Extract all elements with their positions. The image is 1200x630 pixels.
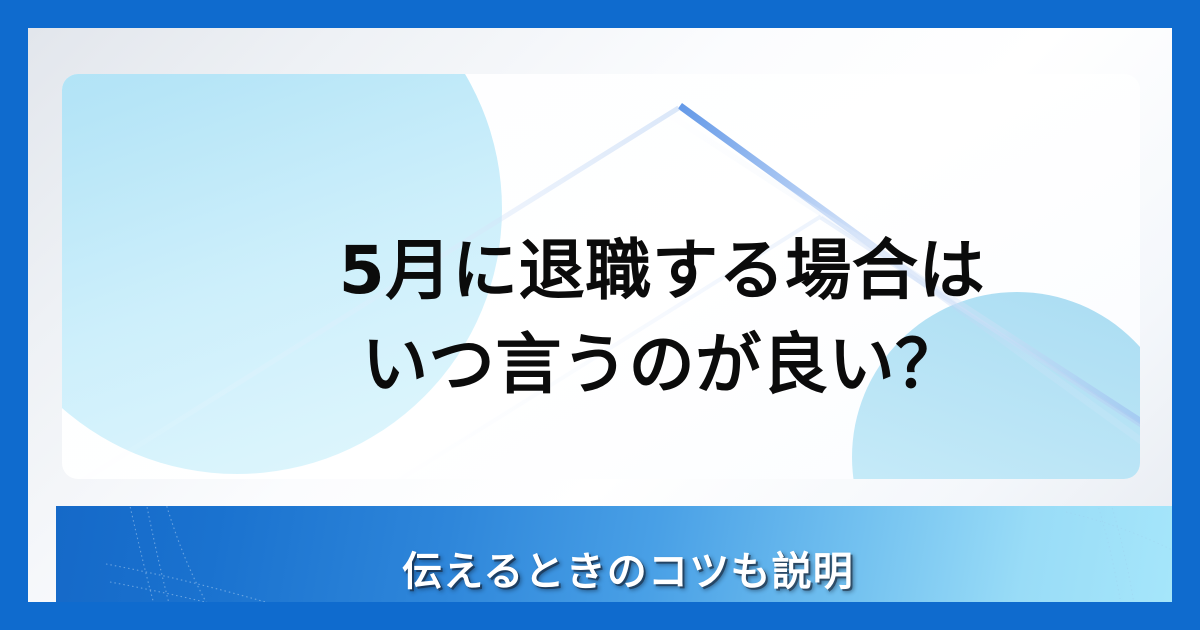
title-line-1: 5月に退職する場合は — [90, 224, 1140, 318]
subtitle-container: 伝えるときのコツも説明 — [56, 506, 1172, 602]
page-title: 5月に退職する場合は いつ言うのが良い？ — [90, 224, 1140, 411]
subtitle-band: 伝えるときのコツも説明 — [56, 506, 1172, 602]
eyecatch-banner: 5月に退職する場合は いつ言うのが良い？ — [0, 0, 1200, 630]
outer-card: 5月に退職する場合は いつ言うのが良い？ — [28, 28, 1172, 602]
title-line-2: いつ言うのが良い？ — [90, 318, 1140, 412]
subtitle-text: 伝えるときのコツも説明 — [402, 539, 854, 597]
inner-card: 5月に退職する場合は いつ言うのが良い？ — [62, 74, 1140, 479]
